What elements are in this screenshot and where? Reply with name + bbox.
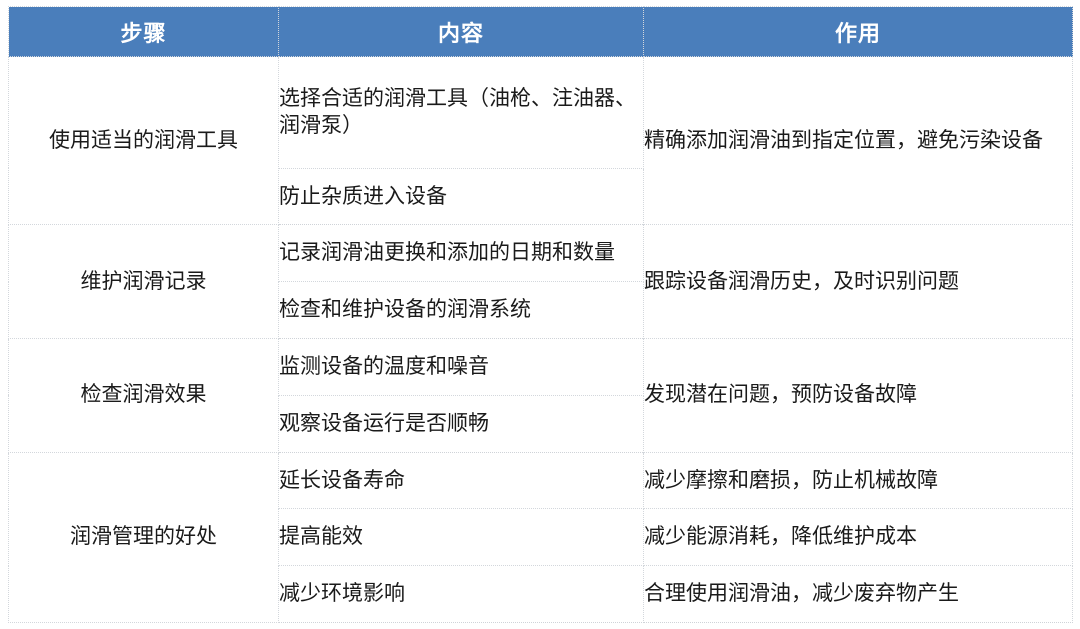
table-row: 润滑管理的好处 延长设备寿命 减少摩擦和磨损，防止机械故障 (9, 452, 1073, 509)
cell-purpose-4-1: 减少摩擦和磨损，防止机械故障 (644, 452, 1073, 509)
cell-content-4-2: 提高能效 (279, 509, 644, 566)
column-header-step: 步骤 (9, 7, 279, 57)
cell-purpose-4-3: 合理使用润滑油，减少废弃物产生 (644, 566, 1073, 623)
purpose-text-1: 精确添加润滑油到指定位置，避免污染设备 (644, 127, 1072, 155)
cell-content-3-1: 监测设备的温度和噪音 (279, 339, 644, 396)
step-label-4: 润滑管理的好处 (9, 523, 278, 551)
cell-content-4-3: 减少环境影响 (279, 566, 644, 623)
cell-content-1-1: 选择合适的润滑工具（油枪、注油器、润滑泵） (279, 57, 644, 169)
content-item-4-1: 延长设备寿命 (279, 467, 643, 495)
cell-step-2: 维护润滑记录 (9, 225, 279, 339)
content-item-1-1: 选择合适的润滑工具（油枪、注油器、润滑泵） (279, 85, 643, 140)
content-item-3-1: 监测设备的温度和噪音 (279, 353, 643, 381)
cell-step-4: 润滑管理的好处 (9, 452, 279, 622)
table-row: 使用适当的润滑工具 选择合适的润滑工具（油枪、注油器、润滑泵） 精确添加润滑油到… (9, 57, 1073, 169)
content-item-3-2: 观察设备运行是否顺畅 (279, 410, 643, 438)
step-label-1: 使用适当的润滑工具 (9, 127, 278, 155)
cell-purpose-1: 精确添加润滑油到指定位置，避免污染设备 (644, 57, 1073, 225)
cell-content-2-2: 检查和维护设备的润滑系统 (279, 282, 644, 339)
cell-content-1-2: 防止杂质进入设备 (279, 168, 644, 225)
lubrication-management-table: 步骤 内容 作用 使用适当的润滑工具 选择合适的润滑工具（油枪、注油器、润滑泵）… (8, 6, 1073, 623)
table-row: 检查润滑效果 监测设备的温度和噪音 发现潜在问题，预防设备故障 (9, 339, 1073, 396)
table-body: 使用适当的润滑工具 选择合适的润滑工具（油枪、注油器、润滑泵） 精确添加润滑油到… (9, 57, 1073, 623)
cell-purpose-4-2: 减少能源消耗，降低维护成本 (644, 509, 1073, 566)
purpose-text-4-1: 减少摩擦和磨损，防止机械故障 (644, 467, 1072, 495)
content-item-1-2: 防止杂质进入设备 (279, 183, 643, 211)
step-label-2: 维护润滑记录 (9, 268, 278, 296)
cell-content-4-1: 延长设备寿命 (279, 452, 644, 509)
content-item-4-2: 提高能效 (279, 523, 643, 551)
lubrication-management-table-container: 步骤 内容 作用 使用适当的润滑工具 选择合适的润滑工具（油枪、注油器、润滑泵）… (8, 6, 1072, 623)
table-row: 维护润滑记录 记录润滑油更换和添加的日期和数量 跟踪设备润滑历史，及时识别问题 (9, 225, 1073, 282)
cell-purpose-3: 发现潜在问题，预防设备故障 (644, 339, 1073, 453)
cell-step-3: 检查润滑效果 (9, 339, 279, 453)
cell-content-2-1: 记录润滑油更换和添加的日期和数量 (279, 225, 644, 282)
cell-step-1: 使用适当的润滑工具 (9, 57, 279, 225)
purpose-text-2: 跟踪设备润滑历史，及时识别问题 (644, 268, 1072, 296)
column-header-content: 内容 (279, 7, 644, 57)
cell-content-3-2: 观察设备运行是否顺畅 (279, 395, 644, 452)
table-header-row: 步骤 内容 作用 (9, 7, 1073, 57)
table-header: 步骤 内容 作用 (9, 7, 1073, 57)
content-item-2-1: 记录润滑油更换和添加的日期和数量 (279, 239, 643, 267)
purpose-text-4-3: 合理使用润滑油，减少废弃物产生 (644, 580, 1072, 608)
cell-purpose-2: 跟踪设备润滑历史，及时识别问题 (644, 225, 1073, 339)
step-label-3: 检查润滑效果 (9, 381, 278, 409)
purpose-text-3: 发现潜在问题，预防设备故障 (644, 381, 1072, 409)
content-item-2-2: 检查和维护设备的润滑系统 (279, 296, 643, 324)
content-item-4-3: 减少环境影响 (279, 580, 643, 608)
purpose-text-4-2: 减少能源消耗，降低维护成本 (644, 523, 1072, 551)
column-header-purpose: 作用 (644, 7, 1073, 57)
